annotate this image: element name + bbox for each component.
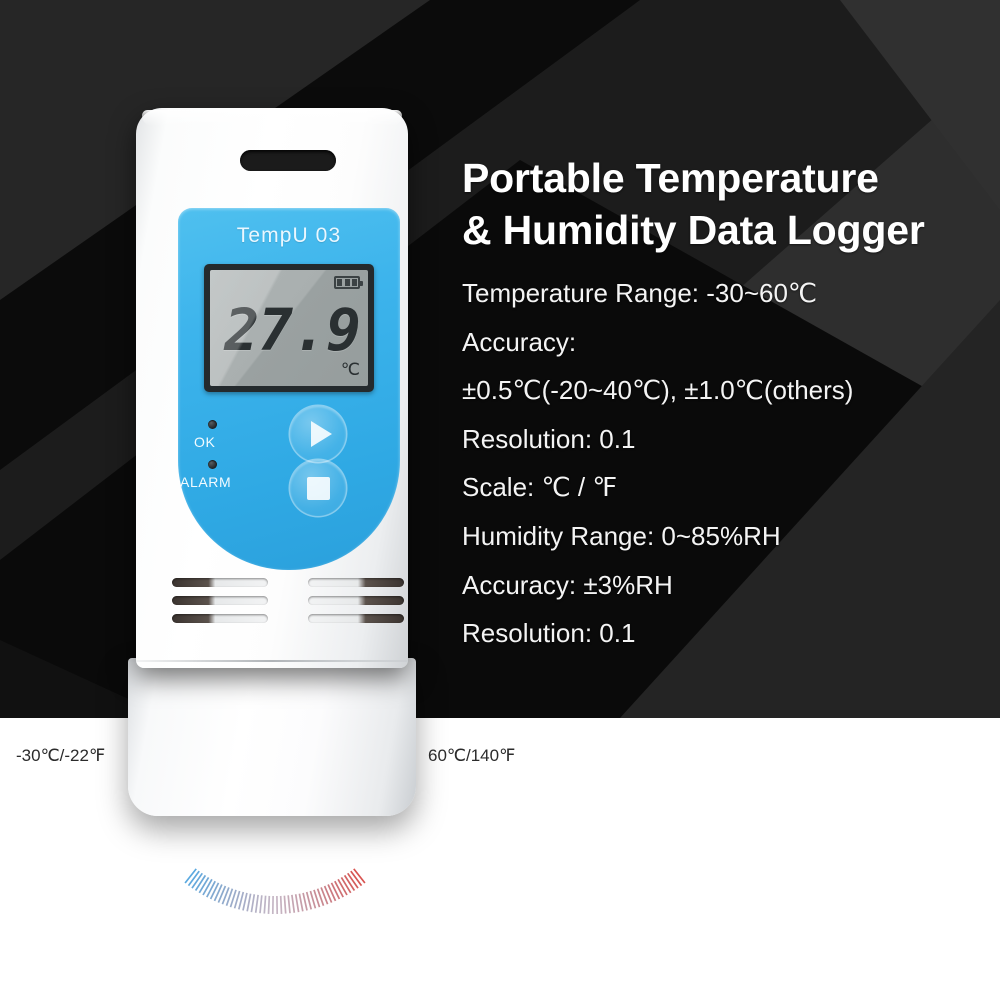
range-tick (247, 894, 250, 912)
play-button[interactable] (290, 406, 346, 462)
device-faceplate: TempU 03 27.9℃ OK (178, 208, 400, 570)
range-tick (239, 892, 244, 909)
play-icon (311, 421, 332, 447)
range-tick (288, 895, 290, 913)
vent-slot (308, 596, 404, 605)
range-tick (281, 896, 282, 914)
range-tick (292, 895, 294, 913)
range-tick (341, 877, 350, 892)
sensor-vents-left (172, 578, 268, 632)
temperature-range-scale: -30℃/-22℉ 60℃/140℉ (0, 720, 560, 950)
range-tick (185, 869, 196, 883)
battery-cell (337, 279, 342, 286)
range-tick (192, 873, 202, 888)
range-tick (256, 895, 258, 913)
range-tick (196, 875, 206, 890)
range-tick (296, 894, 299, 912)
temperature-value: 27.9 (224, 306, 360, 356)
spec-item: Temperature Range: -30~60℃ (462, 269, 992, 318)
vent-slot (172, 596, 268, 605)
alarm-led-indicator (208, 460, 217, 469)
range-tick (264, 896, 265, 914)
range-tick (299, 894, 302, 912)
range-tick (345, 875, 355, 890)
vent-slot (308, 614, 404, 623)
shell-seam-line (130, 660, 414, 662)
spec-list: Temperature Range: -30~60℃ Accuracy: ±0.… (462, 269, 992, 658)
range-tick (203, 879, 212, 895)
range-tick (199, 877, 208, 892)
range-tick (351, 871, 362, 886)
ok-led-label: OK (194, 434, 215, 450)
marketing-copy: Portable Temperature & Humidity Data Log… (462, 152, 992, 658)
range-tick (269, 896, 270, 914)
brand-label: TempU 03 (178, 224, 400, 248)
hot-range-label: 60℃/140℉ (428, 746, 515, 766)
range-tick (189, 871, 200, 886)
vent-slot (308, 578, 404, 587)
spec-item: Resolution: 0.1 (462, 609, 992, 658)
vent-slot (172, 578, 268, 587)
lcd-bezel: 27.9℃ (204, 264, 374, 392)
spec-item: Resolution: 0.1 (462, 415, 992, 464)
temperature-unit: ℃ (341, 360, 360, 380)
range-tick (303, 893, 307, 911)
range-tick (354, 869, 365, 883)
spec-item: Accuracy: ±3%RH (462, 561, 992, 610)
sensor-vents-right (308, 578, 404, 632)
temperature-reading: 27.9℃ (210, 306, 360, 380)
ok-led-indicator (208, 420, 217, 429)
device-upper-shell: TempU 03 27.9℃ OK (136, 108, 408, 668)
range-tick (243, 893, 247, 911)
spec-item: Scale: ℃ / ℉ (462, 463, 992, 512)
range-tick (338, 879, 347, 895)
battery-full-icon (334, 276, 360, 289)
range-tick (251, 894, 254, 912)
product-banner: Portable Temperature & Humidity Data Log… (0, 0, 1000, 1000)
page-title: Portable Temperature & Humidity Data Log… (462, 152, 992, 257)
range-tick (207, 881, 215, 897)
stop-icon (307, 477, 330, 500)
battery-cell (345, 279, 350, 286)
headline-line-2: & Humidity Data Logger (462, 204, 992, 256)
spec-item: Accuracy: (462, 318, 992, 367)
alarm-led-label: ALARM (180, 474, 231, 490)
lanyard-slot (240, 150, 336, 171)
range-tick (348, 873, 358, 888)
range-tick (335, 881, 343, 897)
spec-item: ±0.5℃(-20~40℃), ±1.0℃(others) (462, 366, 992, 415)
data-logger-device: TempU 03 27.9℃ OK (120, 108, 420, 818)
range-tick (260, 895, 262, 913)
headline-line-1: Portable Temperature (462, 152, 992, 204)
battery-cell (352, 279, 357, 286)
cold-range-label: -30℃/-22℉ (16, 746, 105, 766)
vent-slot (172, 614, 268, 623)
spec-item: Humidity Range: 0~85%RH (462, 512, 992, 561)
range-tick (307, 892, 312, 909)
lcd-screen: 27.9℃ (210, 270, 368, 386)
range-tick (284, 896, 285, 914)
stop-button[interactable] (290, 460, 346, 516)
